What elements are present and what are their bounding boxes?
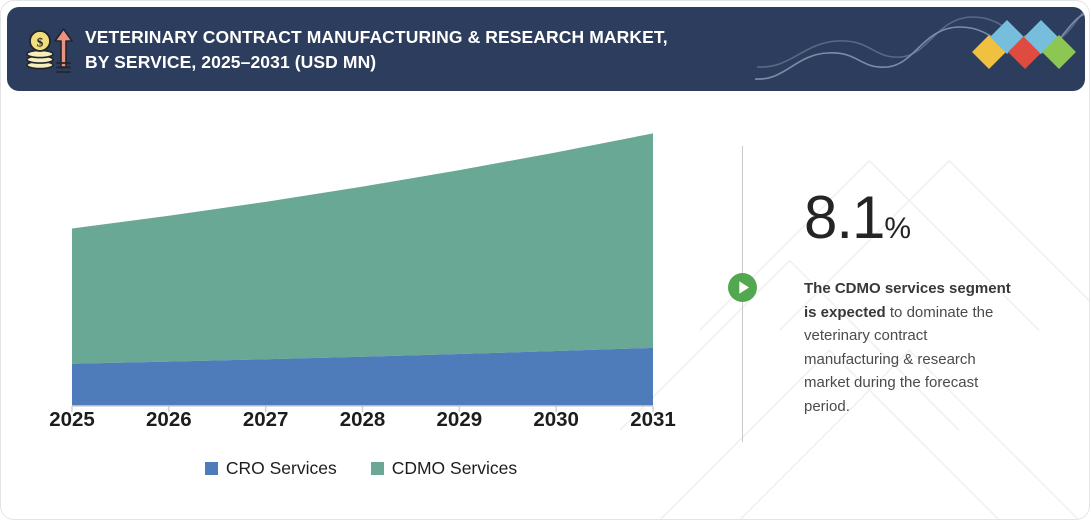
page-title: VETERINARY CONTRACT MANUFACTURING & RESE…	[85, 25, 765, 75]
market-chart-card: $ VETERINARY CONTRACT MANUFACTURING & RE…	[0, 0, 1090, 520]
x-axis-label-2031: 2031	[608, 408, 698, 432]
legend-swatch-icon	[371, 462, 384, 475]
play-circle-icon[interactable]	[727, 272, 758, 303]
legend-item-cro-services[interactable]: CRO Services	[205, 458, 337, 479]
title-line-1: VETERINARY CONTRACT MANUFACTURING & RESE…	[85, 27, 668, 47]
chart-legend: CRO ServicesCDMO Services	[1, 458, 721, 479]
legend-item-cdmo-services[interactable]: CDMO Services	[371, 458, 517, 479]
area-series-cdmo-services	[72, 133, 653, 363]
x-axis-label-2027: 2027	[221, 408, 311, 432]
x-axis-label-2026: 2026	[124, 408, 214, 432]
legend-label: CDMO Services	[392, 458, 517, 479]
x-axis-label-2030: 2030	[511, 408, 601, 432]
title-line-2: BY SERVICE, 2025–2031 (USD MN)	[85, 50, 765, 75]
legend-swatch-icon	[205, 462, 218, 475]
insight-description: The CDMO services segment is expected to…	[804, 277, 1014, 418]
x-axis-label-2028: 2028	[318, 408, 408, 432]
x-axis-label-2029: 2029	[414, 408, 504, 432]
legend-label: CRO Services	[226, 458, 337, 479]
chart-plot-area	[1, 96, 721, 416]
insight-panel: 8.1% The CDMO services segment is expect…	[804, 186, 1074, 418]
x-axis-labels: 2025202620272028202920302031	[1, 408, 721, 442]
wave-diamonds-decoration	[755, 7, 1085, 91]
cagr-value: 8.1	[804, 184, 884, 251]
cagr-stat: 8.1%	[804, 186, 1074, 261]
svg-text:$: $	[37, 35, 44, 50]
money-growth-icon: $	[21, 21, 77, 77]
chart-header: $ VETERINARY CONTRACT MANUFACTURING & RE…	[7, 7, 1085, 91]
stacked-area-chart: 2025202620272028202920302031 CRO Service…	[1, 96, 721, 496]
x-axis-label-2025: 2025	[27, 408, 117, 432]
cagr-unit: %	[884, 212, 911, 245]
